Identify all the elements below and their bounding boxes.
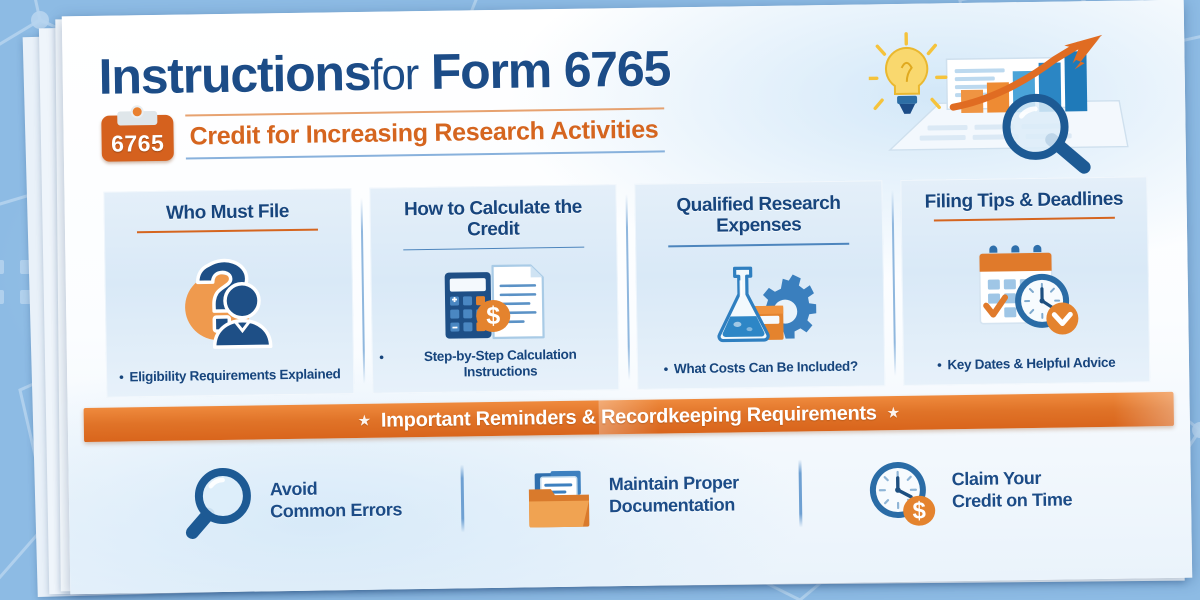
footer-line-1: Maintain Proper bbox=[609, 472, 739, 496]
card-slot-3: Qualified Research Expenses bbox=[625, 180, 894, 390]
category-cards: Who Must File • bbox=[94, 176, 1159, 398]
footer-label: Claim Your Credit on Time bbox=[952, 467, 1073, 513]
title-strong-2: Form 6765 bbox=[430, 40, 670, 100]
form-number-badge: 6765 bbox=[101, 115, 174, 162]
infographic-page: Instructionsfor Form 6765 6765 Credit fo… bbox=[62, 0, 1192, 594]
footer-line-2: Documentation bbox=[609, 494, 739, 518]
card-art: $ bbox=[378, 250, 611, 350]
footer-line-1: Claim Your bbox=[952, 467, 1072, 491]
card-slot-4: Filing Tips & Deadlines bbox=[891, 176, 1160, 386]
growth-chart-illustration bbox=[868, 28, 1160, 182]
calendar-clock-icon bbox=[965, 238, 1084, 340]
footer-line-2: Credit on Time bbox=[952, 489, 1072, 513]
footer-label: Maintain Proper Documentation bbox=[609, 472, 740, 518]
header: Instructionsfor Form 6765 6765 Credit fo… bbox=[92, 22, 1156, 188]
svg-text:$: $ bbox=[912, 498, 926, 525]
card-filing-tips-deadlines[interactable]: Filing Tips & Deadlines bbox=[900, 176, 1151, 386]
title-light: for bbox=[370, 50, 418, 100]
magnifier-icon bbox=[182, 463, 259, 540]
bullet-text: Key Dates & Helpful Advice bbox=[947, 355, 1115, 374]
card-art bbox=[112, 232, 345, 369]
card-slot-2: How to Calculate the Credit bbox=[360, 184, 629, 394]
banner-text-row: ★ Important Reminders & Recordkeeping Re… bbox=[358, 401, 899, 432]
bullet-dot: • bbox=[379, 349, 384, 365]
card-art bbox=[908, 221, 1141, 358]
bullet-dot: • bbox=[937, 357, 942, 373]
footer-tips: Avoid Common Errors bbox=[98, 440, 1161, 552]
card-bullet: • Key Dates & Helpful Advice bbox=[937, 355, 1116, 376]
title-strong-1: Instructions bbox=[98, 45, 371, 105]
card-slot-1: Who Must File • bbox=[94, 188, 363, 398]
clock-dollar-icon: $ bbox=[863, 453, 940, 530]
footer-line-2: Common Errors bbox=[270, 499, 402, 523]
folder-documents-icon bbox=[520, 458, 597, 535]
banner-label: Important Reminders & Recordkeeping Requ… bbox=[381, 402, 877, 432]
card-title: Who Must File bbox=[166, 201, 289, 224]
card-how-to-calculate[interactable]: How to Calculate the Credit bbox=[369, 184, 620, 394]
footer-line-1: Avoid bbox=[270, 477, 402, 501]
page-subtitle: Credit for Increasing Research Activitie… bbox=[189, 115, 658, 151]
footer-item-avoid-errors[interactable]: Avoid Common Errors bbox=[122, 450, 461, 551]
bullet-dot: • bbox=[664, 361, 669, 377]
calculator-document-dollar-icon: $ bbox=[435, 249, 554, 351]
card-title: How to Calculate the Credit bbox=[377, 196, 609, 242]
card-bullet: • Eligibility Requirements Explained bbox=[119, 366, 341, 388]
footer-item-claim-on-time[interactable]: $ Claim Your Credit on Time bbox=[798, 440, 1137, 541]
bullet-text: Eligibility Requirements Explained bbox=[129, 366, 340, 385]
star-right-icon: ★ bbox=[887, 405, 899, 421]
card-title: Qualified Research Expenses bbox=[642, 192, 874, 238]
card-bullet: • Step-by-Step Calculation Instructions bbox=[379, 346, 611, 384]
subtitle-wrap: Credit for Increasing Research Activitie… bbox=[189, 111, 658, 157]
reminders-banner: ★ Important Reminders & Recordkeeping Re… bbox=[84, 392, 1174, 442]
flask-icon bbox=[718, 268, 768, 341]
subtitle-rule-top bbox=[185, 107, 664, 116]
form-number-text: 6765 bbox=[101, 130, 173, 158]
card-title: Filing Tips & Deadlines bbox=[925, 189, 1124, 213]
person-question-icon bbox=[169, 250, 288, 352]
card-art bbox=[643, 246, 876, 362]
bullet-text: Step-by-Step Calculation Instructions bbox=[390, 346, 612, 382]
card-bullet: • What Costs Can Be Included? bbox=[664, 358, 858, 379]
lightbulb-icon bbox=[868, 33, 946, 114]
bullet-dot: • bbox=[119, 369, 124, 385]
card-who-must-file[interactable]: Who Must File • bbox=[103, 188, 354, 398]
card-qualified-research-expenses[interactable]: Qualified Research Expenses bbox=[634, 180, 885, 390]
subtitle-rule-bottom bbox=[186, 150, 665, 159]
flask-gear-box-icon bbox=[700, 253, 819, 355]
svg-text:$: $ bbox=[486, 301, 500, 329]
footer-label: Avoid Common Errors bbox=[270, 477, 402, 523]
footer-item-documentation[interactable]: Maintain Proper Documentation bbox=[460, 445, 799, 546]
clipboard-knob-icon bbox=[131, 105, 144, 118]
bullet-text: What Costs Can Be Included? bbox=[674, 358, 858, 377]
star-left-icon: ★ bbox=[358, 413, 370, 429]
